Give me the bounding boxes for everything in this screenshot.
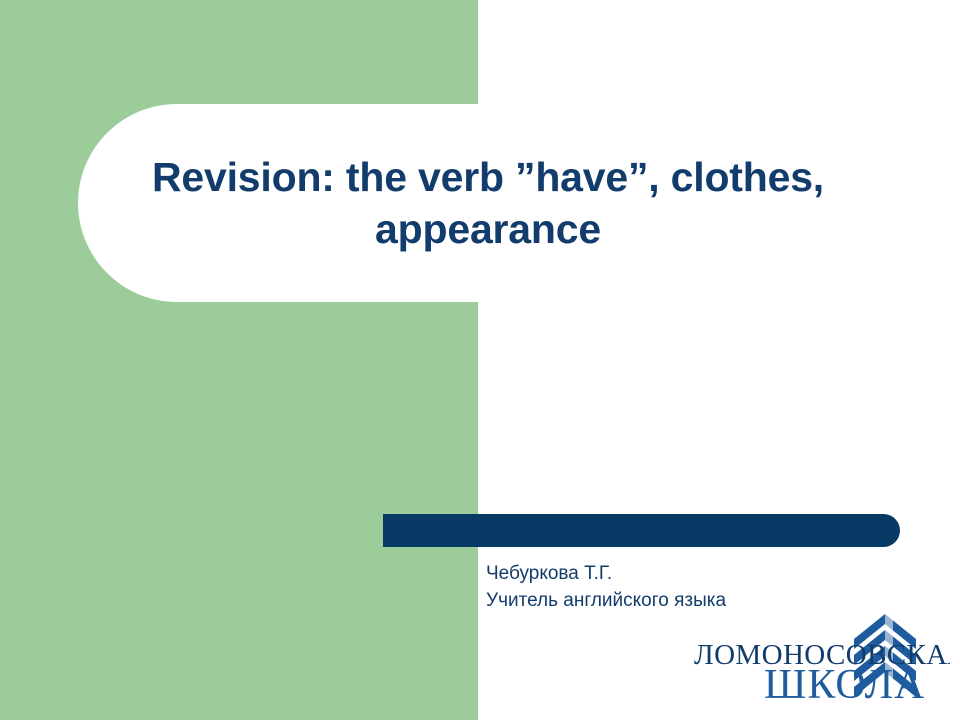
author-name: Чебуркова Т.Г. bbox=[486, 561, 726, 588]
logo-line2-text: ШКОЛА bbox=[764, 662, 925, 704]
slide-title-text: Revision: the verb ”have”, clothes, appe… bbox=[104, 151, 872, 256]
accent-bar bbox=[383, 514, 900, 547]
author-byline: Чебуркова Т.Г. Учитель английского языка bbox=[486, 561, 726, 615]
presentation-slide: Revision: the verb ”have”, clothes, appe… bbox=[0, 0, 960, 720]
slide-title: Revision: the verb ”have”, clothes, appe… bbox=[78, 104, 898, 302]
school-logo: ЛОМОНОСОВСКАЯ ШКОЛА bbox=[688, 608, 950, 704]
